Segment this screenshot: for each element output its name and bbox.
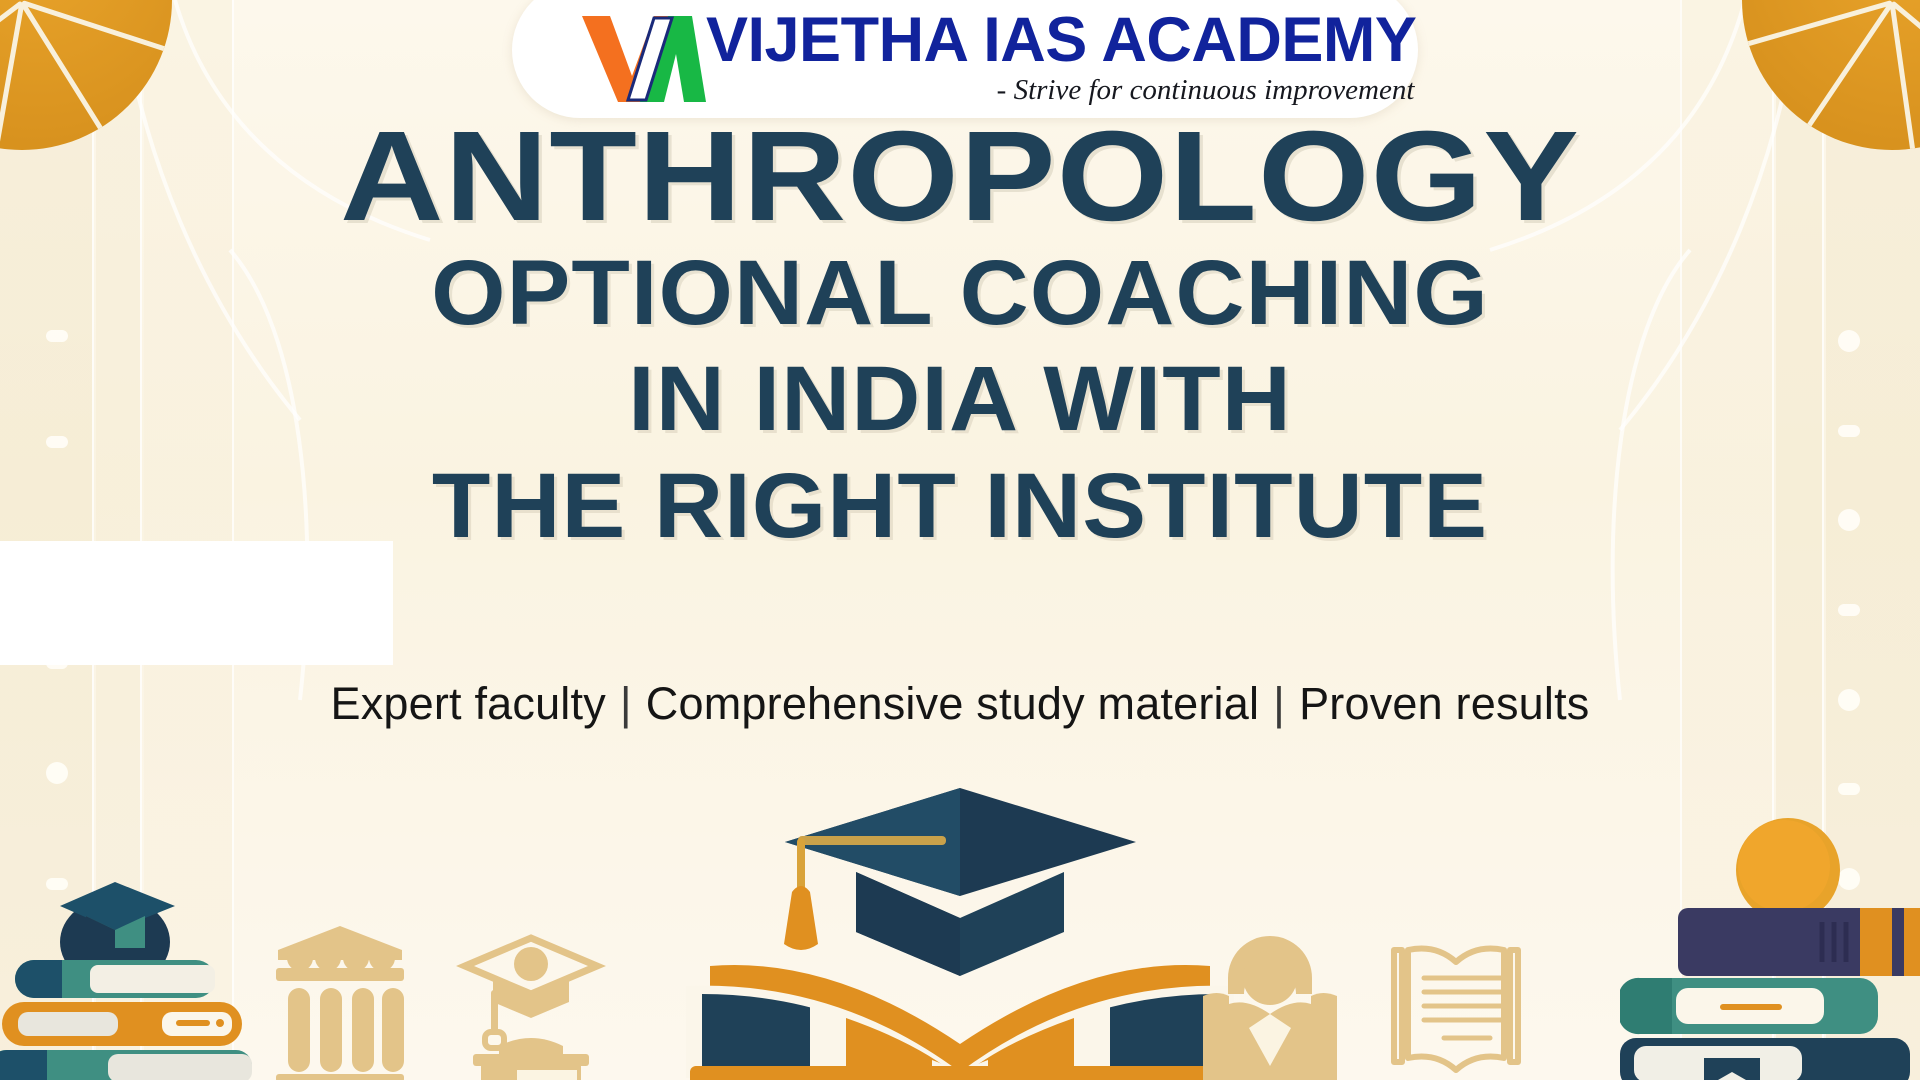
headline-line-2: OPTIONAL COACHING	[0, 244, 1920, 342]
feature-separator: |	[1259, 678, 1299, 729]
feature-item-proven-results: Proven results	[1299, 678, 1589, 729]
brand-name: VIJETHA IAS ACADEMY	[706, 9, 1416, 72]
brand-logo-pill[interactable]: VIJETHA IAS ACADEMY - Strive for continu…	[512, 0, 1418, 118]
blank-white-rectangle	[0, 541, 393, 665]
brand-tagline: - Strive for continuous improvement	[706, 76, 1416, 105]
feature-list: Expert faculty|Comprehensive study mater…	[0, 678, 1920, 730]
headline-block: ANTHROPOLOGY OPTIONAL COACHING IN INDIA …	[0, 118, 1920, 555]
feature-item-expert-faculty: Expert faculty	[330, 678, 605, 729]
footer-strip	[0, 1074, 1920, 1080]
va-monogram-icon	[580, 14, 706, 102]
headline-line-1: ANTHROPOLOGY	[0, 118, 1920, 236]
headline-line-3: IN INDIA WITH	[0, 350, 1920, 448]
poster-canvas: VIJETHA IAS ACADEMY - Strive for continu…	[0, 0, 1920, 1080]
feature-separator: |	[606, 678, 646, 729]
feature-item-study-material: Comprehensive study material	[646, 678, 1259, 729]
headline-line-4: THE RIGHT INSTITUTE	[0, 457, 1920, 555]
